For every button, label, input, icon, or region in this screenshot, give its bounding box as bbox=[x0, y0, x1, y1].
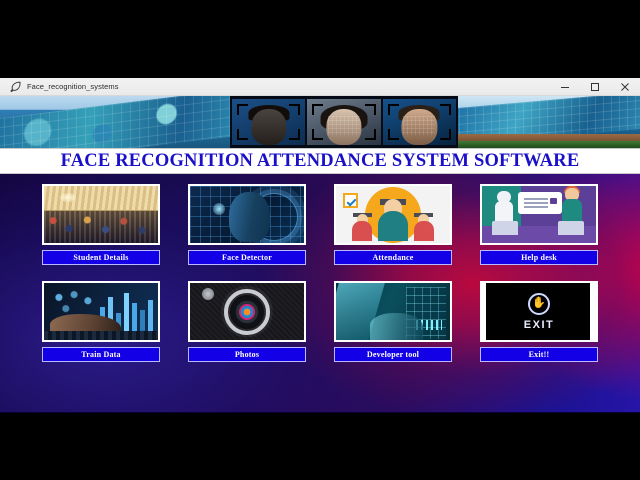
banner-image-faces bbox=[230, 96, 458, 148]
exit-button[interactable]: Exit!! bbox=[480, 347, 598, 362]
close-button[interactable] bbox=[610, 78, 640, 96]
card-face-detector[interactable]: Face Detector bbox=[187, 184, 307, 281]
application-window: Face_recognition_systems bbox=[0, 78, 640, 413]
help-desk-thumbnail[interactable] bbox=[480, 184, 598, 245]
student-details-button[interactable]: Student Details bbox=[42, 250, 160, 265]
photos-thumbnail[interactable] bbox=[188, 281, 306, 342]
banner-image-left bbox=[0, 96, 230, 148]
face-panel-1 bbox=[232, 99, 305, 145]
card-train-data[interactable]: Train Data bbox=[41, 281, 161, 378]
face-panel-3 bbox=[383, 99, 456, 145]
window-title-bar: Face_recognition_systems bbox=[0, 78, 640, 96]
exit-graphic-label: EXIT bbox=[524, 319, 554, 331]
train-data-button[interactable]: Train Data bbox=[42, 347, 160, 362]
card-attendance[interactable]: Attendance bbox=[333, 184, 453, 281]
checkmark-icon bbox=[343, 193, 358, 208]
student-details-thumbnail[interactable] bbox=[42, 184, 160, 245]
screen-capture: Face_recognition_systems bbox=[0, 0, 640, 480]
attendance-button[interactable]: Attendance bbox=[334, 250, 452, 265]
train-data-thumbnail[interactable] bbox=[42, 281, 160, 342]
hand-palm-icon: ✋ bbox=[528, 293, 550, 315]
face-detector-button[interactable]: Face Detector bbox=[188, 250, 306, 265]
exit-thumbnail[interactable]: ✋ EXIT bbox=[480, 281, 598, 342]
card-developer-tool[interactable]: Developer tool bbox=[333, 281, 453, 378]
module-grid: Student Details Face Detector bbox=[0, 174, 640, 412]
photos-button[interactable]: Photos bbox=[188, 347, 306, 362]
banner-image-right bbox=[458, 96, 640, 148]
app-feather-icon bbox=[8, 80, 22, 94]
window-title-text: Face_recognition_systems bbox=[27, 82, 119, 91]
letterbox-bottom-bar bbox=[0, 413, 640, 480]
developer-tool-thumbnail[interactable] bbox=[334, 281, 452, 342]
minimize-button[interactable] bbox=[550, 78, 580, 96]
page-title: FACE RECOGNITION ATTENDANCE SYSTEM SOFTW… bbox=[0, 148, 640, 174]
card-exit[interactable]: ✋ EXIT Exit!! bbox=[479, 281, 599, 378]
header-banner bbox=[0, 96, 640, 148]
developer-tool-button[interactable]: Developer tool bbox=[334, 347, 452, 362]
main-content-area: Student Details Face Detector bbox=[0, 174, 640, 412]
attendance-thumbnail[interactable] bbox=[334, 184, 452, 245]
maximize-button[interactable] bbox=[580, 78, 610, 96]
card-photos[interactable]: Photos bbox=[187, 281, 307, 378]
window-controls bbox=[550, 78, 640, 96]
card-help-desk[interactable]: Help desk bbox=[479, 184, 599, 281]
page-title-text: FACE RECOGNITION ATTENDANCE SYSTEM SOFTW… bbox=[61, 151, 580, 172]
letterbox-top-bar bbox=[0, 0, 640, 78]
lock-icon bbox=[550, 198, 557, 204]
face-panel-2 bbox=[307, 99, 380, 145]
help-desk-button[interactable]: Help desk bbox=[480, 250, 598, 265]
face-detector-thumbnail[interactable] bbox=[188, 184, 306, 245]
card-student-details[interactable]: Student Details bbox=[41, 184, 161, 281]
